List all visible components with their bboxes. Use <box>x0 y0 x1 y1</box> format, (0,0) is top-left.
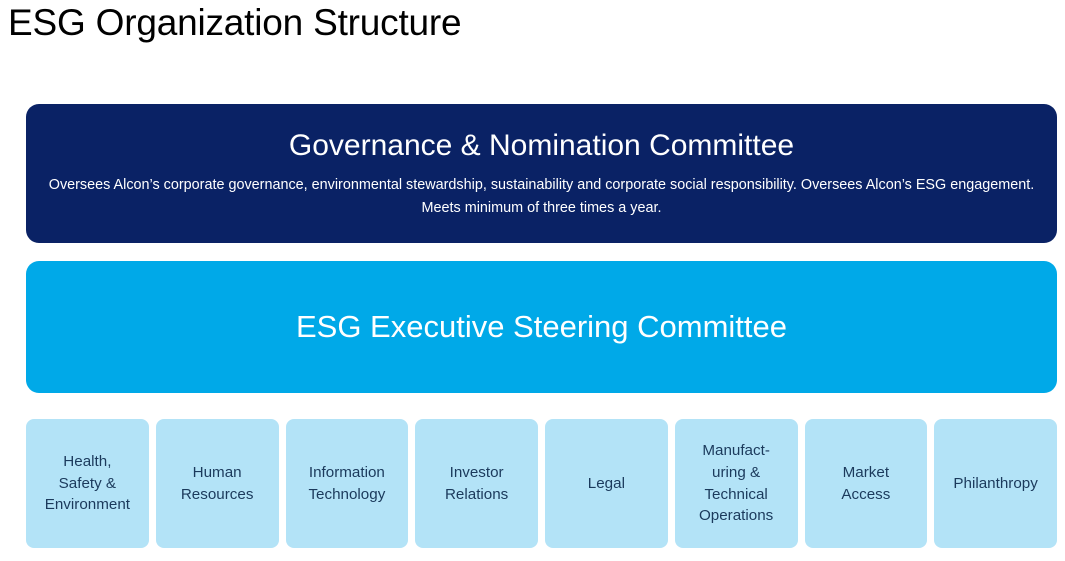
function-box-information-technology: Information Technology <box>286 419 409 548</box>
function-box-label: Manufact- uring & Technical Operations <box>699 440 773 526</box>
governance-committee-title: Governance & Nomination Committee <box>289 129 794 164</box>
function-box-human-resources: Human Resources <box>156 419 279 548</box>
function-box-label: Health, Safety & Environment <box>45 451 130 516</box>
esg-executive-steering-committee-card: ESG Executive Steering Committee <box>26 261 1057 393</box>
governance-nomination-committee-card: Governance & Nomination Committee Overse… <box>26 104 1057 243</box>
function-box-label: Investor Relations <box>445 462 508 505</box>
function-box-investor-relations: Investor Relations <box>415 419 538 548</box>
function-box-legal: Legal <box>545 419 668 548</box>
function-box-label: Information Technology <box>308 462 385 505</box>
function-boxes-row: Health, Safety & Environment Human Resou… <box>26 419 1057 548</box>
function-box-manufacturing-technical-operations: Manufact- uring & Technical Operations <box>675 419 798 548</box>
page-title: ESG Organization Structure <box>8 2 461 44</box>
function-box-label: Market Access <box>841 462 890 505</box>
function-box-health-safety-environment: Health, Safety & Environment <box>26 419 149 548</box>
function-box-label: Philanthropy <box>953 473 1037 495</box>
steering-committee-title: ESG Executive Steering Committee <box>296 309 787 345</box>
function-box-label: Human Resources <box>181 462 254 505</box>
function-box-market-access: Market Access <box>805 419 928 548</box>
function-box-label: Legal <box>588 473 625 495</box>
function-box-philanthropy: Philanthropy <box>934 419 1057 548</box>
governance-committee-description: Oversees Alcon’s corporate governance, e… <box>40 174 1043 220</box>
